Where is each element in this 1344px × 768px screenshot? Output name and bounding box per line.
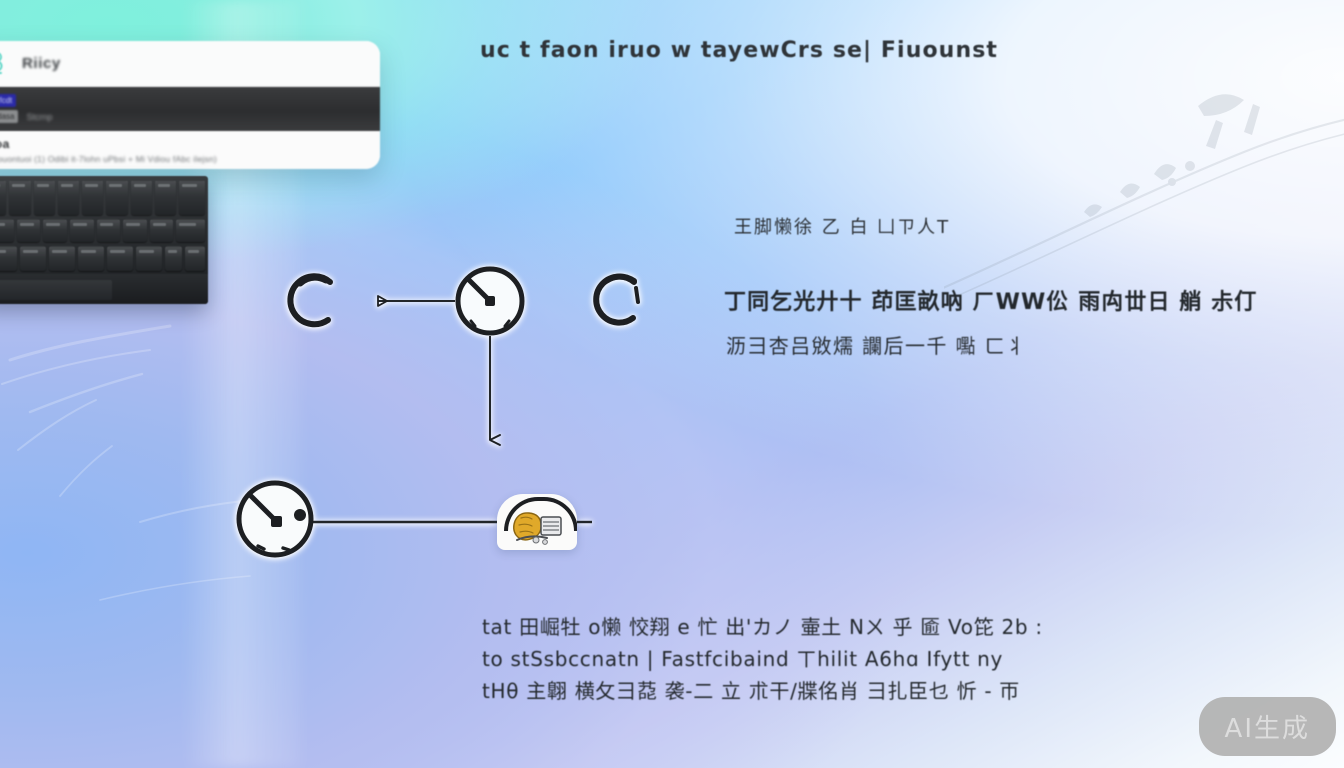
keyboard-row-function xyxy=(0,176,208,215)
ui-card-header: Riicy xyxy=(0,41,380,87)
keyboard-row-letters-1 xyxy=(0,215,208,242)
broken-ring-left-icon xyxy=(290,276,330,324)
illustration-canvas: Riicy pcta fcdt thal dasa Stcrnp Toa Mio… xyxy=(0,0,1344,768)
ui-card-title: Riicy xyxy=(22,55,61,72)
right-text-line-1: 王脚懒徐 乙 白 凵ㄗ人T xyxy=(734,213,950,239)
keyboard-palmrest xyxy=(0,274,208,304)
toolbar-row-primary: pcta fcdt xyxy=(0,94,376,107)
keyboard-trackpad xyxy=(0,280,112,300)
keyboard-row-letters-2 xyxy=(0,242,208,271)
ui-card-body-heading: Toa xyxy=(0,137,366,151)
clock-gauge-lower-left-icon xyxy=(239,483,311,555)
toolbar-row-secondary: thal dasa Stcrnp xyxy=(0,110,376,123)
broken-ring-right-icon xyxy=(596,277,638,323)
background-wisp-strokes xyxy=(0,300,330,630)
toolbar-chip-secondary[interactable]: thal dasa xyxy=(0,110,18,123)
ui-card-toolbar[interactable]: pcta fcdt thal dasa Stcrnp xyxy=(0,87,380,131)
background-ghost-texture xyxy=(944,70,1344,300)
bottom-text-line-3: tHθ 主翺 横攵彐莻 袭-二 立 朮干/牃佲肖 彐扎臣乜 忻 - 帀 xyxy=(482,675,1043,707)
worker-tools-icon xyxy=(509,507,567,547)
ui-card-body-subtext: Miouontuoi (1) Odibi it-7lohn uPbsi + Mi… xyxy=(0,154,366,164)
right-text-line-2: 丁同乞光廾十 茚匡畝吶 ㄏWW伀 雨禸丗日 艄 尗仃 xyxy=(724,284,1257,316)
ai-generated-watermark: AI生成 xyxy=(1199,697,1336,756)
person-teal-icon xyxy=(0,52,10,76)
floating-ui-card[interactable]: Riicy pcta fcdt thal dasa Stcrnp Toa Mio… xyxy=(0,41,380,169)
laptop-keyboard-photo xyxy=(0,176,208,304)
worker-tools-node xyxy=(497,494,577,550)
headline-text: uc t faon iruo w tayewCrs se| Fiuounst xyxy=(480,38,998,63)
toolbar-ghost-label: Stcrnp xyxy=(26,112,52,122)
clock-gauge-center-icon xyxy=(458,269,522,333)
bottom-text-line-1: tat 田崛牡 o懒 恔翔 e 忙 出'カノ 壷土 Nㄨ 乎 匬 Vo笓 2b … xyxy=(482,611,1043,643)
ui-card-body: Toa Miouontuoi (1) Odibi it-7lohn uPbsi … xyxy=(0,131,380,169)
bottom-text-block: tat 田崛牡 o懒 恔翔 e 忙 出'カノ 壷土 Nㄨ 乎 匬 Vo笓 2b … xyxy=(482,611,1043,707)
right-text-line-3: 沥彐杏吕敓燸 讕后一千 嚸 ㄈ丬 xyxy=(726,330,1027,359)
toolbar-chip-selected[interactable]: pcta fcdt xyxy=(0,94,16,107)
bottom-text-line-2: to stSsbccnatn | Fastfcibaind ㄒhilit A6h… xyxy=(482,643,1043,675)
